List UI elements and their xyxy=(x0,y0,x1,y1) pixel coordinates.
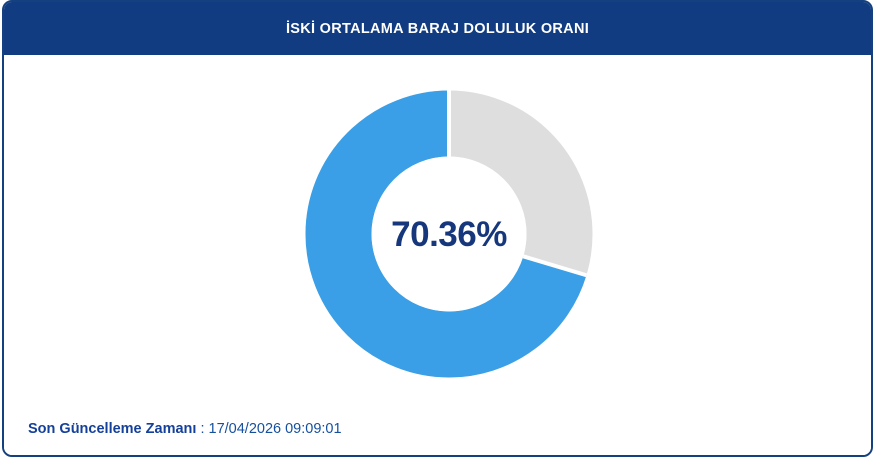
last-update-value: 17/04/2026 09:09:01 xyxy=(209,421,342,437)
card-footer: Son Güncelleme Zamanı : 17/04/2026 09:09… xyxy=(4,403,871,455)
page-title: İSKİ ORTALAMA BARAJ DOLULUK ORANI xyxy=(286,21,589,37)
card-header: İSKİ ORTALAMA BARAJ DOLULUK ORANI xyxy=(4,2,871,55)
dam-occupancy-card: İSKİ ORTALAMA BARAJ DOLULUK ORANI 70.36%… xyxy=(2,0,873,457)
last-update-text: Son Güncelleme Zamanı : 17/04/2026 09:09… xyxy=(28,421,342,437)
donut-hole xyxy=(372,157,527,312)
last-update-separator: : xyxy=(196,421,208,437)
donut-chart-svg xyxy=(302,87,596,381)
donut-chart: 70.36% xyxy=(302,87,596,381)
card-body: 70.36% xyxy=(4,55,871,405)
last-update-label: Son Güncelleme Zamanı xyxy=(28,421,196,437)
